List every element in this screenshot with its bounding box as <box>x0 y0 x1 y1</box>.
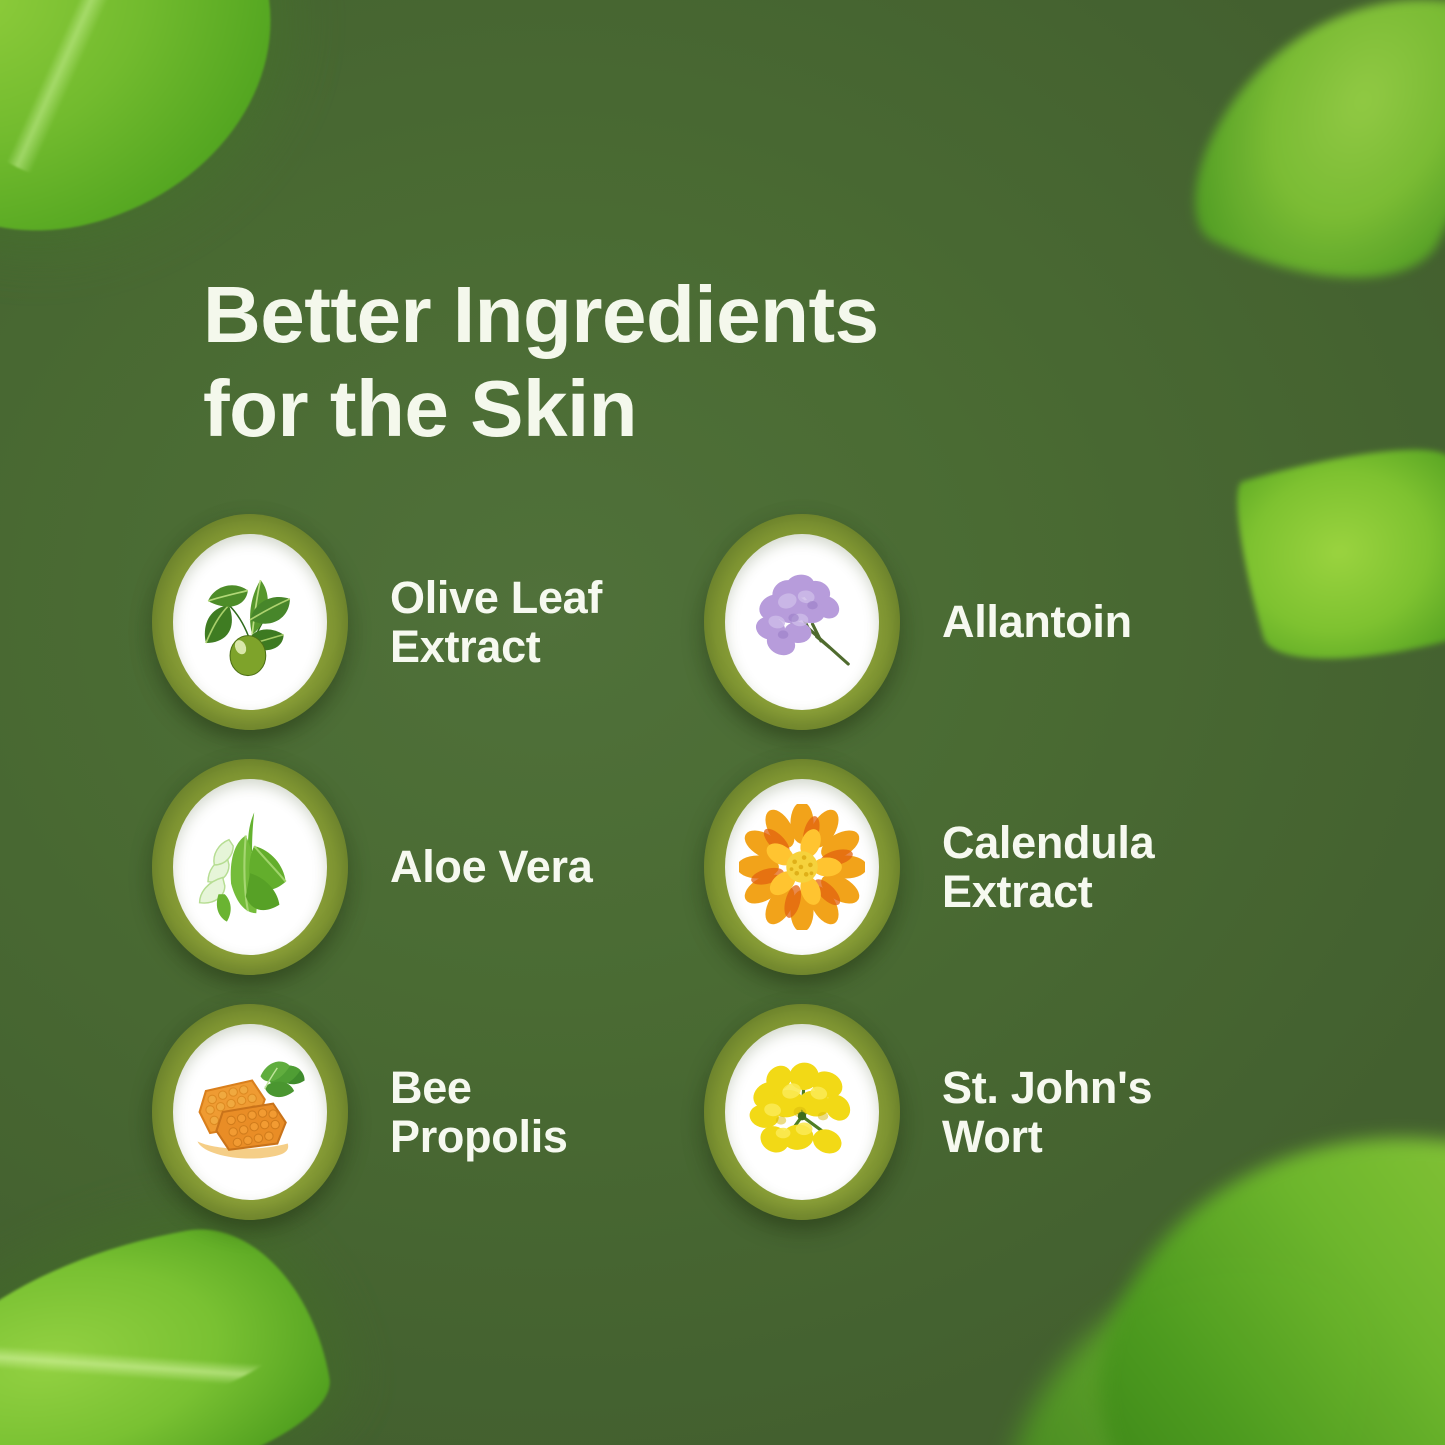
ingredient-item-calendula-extract: Calendula Extract <box>704 753 1256 981</box>
leaf-top-left-icon <box>0 0 312 270</box>
ingredient-badge-inner <box>725 534 879 710</box>
ingredient-item-allantoin: Allantoin <box>704 508 1256 736</box>
ingredient-badge-inner <box>173 534 327 710</box>
ingredient-badge <box>704 1004 900 1220</box>
page-title: Better Ingredients for the Skin <box>203 268 1133 457</box>
ingredient-label: Olive Leaf Extract <box>390 573 602 671</box>
olive-branch-icon <box>187 559 313 685</box>
leaf-bottom-left-icon <box>0 1211 343 1445</box>
ingredient-item-bee-propolis: Bee Propolis <box>152 998 704 1226</box>
ingredient-label-line-2: Wort <box>942 1112 1152 1161</box>
ingredient-label-line-2: Extract <box>942 867 1154 916</box>
ingredient-label: Bee Propolis <box>390 1063 568 1161</box>
ingredient-badge <box>152 514 348 730</box>
ingredient-label-line-1: Calendula <box>942 818 1154 867</box>
ingredient-label-line-2: Propolis <box>390 1112 568 1161</box>
ingredient-item-aloe-vera: Aloe Vera <box>152 753 704 981</box>
aloe-vera-icon <box>187 804 313 930</box>
ingredient-label: St. John's Wort <box>942 1063 1152 1161</box>
ingredient-badge-inner <box>725 779 879 955</box>
ingredients-poster: Better Ingredients for the Skin <box>0 0 1445 1445</box>
leaf-top-right-icon <box>1171 0 1445 330</box>
ingredient-label-line-1: Olive Leaf <box>390 573 602 622</box>
ingredient-badge <box>704 759 900 975</box>
ingredient-grid: Olive Leaf Extract <box>152 508 1312 1226</box>
ingredient-label-line-1: Allantoin <box>942 597 1132 646</box>
ingredient-badge-inner <box>173 779 327 955</box>
page-title-line-1: Better Ingredients <box>203 268 1133 362</box>
leaf-bottom-right-back-icon <box>950 1188 1420 1445</box>
calendula-flower-icon <box>739 804 865 930</box>
ingredient-label: Allantoin <box>942 597 1132 646</box>
ingredient-badge-inner <box>173 1024 327 1200</box>
ingredient-label-line-1: St. John's <box>942 1063 1152 1112</box>
ingredient-badge <box>152 759 348 975</box>
ingredient-badge <box>152 1004 348 1220</box>
page-title-line-2: for the Skin <box>203 362 1133 456</box>
ingredient-badge <box>704 514 900 730</box>
honeycomb-icon <box>187 1049 313 1175</box>
ingredient-label-line-2: Extract <box>390 622 602 671</box>
lilac-flower-icon <box>739 559 865 685</box>
ingredient-label-line-1: Aloe Vera <box>390 842 592 891</box>
ingredient-item-st-johns-wort: St. John's Wort <box>704 998 1256 1226</box>
ingredient-item-olive-leaf-extract: Olive Leaf Extract <box>152 508 704 736</box>
ingredient-label: Calendula Extract <box>942 818 1154 916</box>
ingredient-label: Aloe Vera <box>390 842 592 891</box>
ingredient-label-line-1: Bee <box>390 1063 568 1112</box>
st-johns-wort-flower-icon <box>739 1049 865 1175</box>
ingredient-badge-inner <box>725 1024 879 1200</box>
